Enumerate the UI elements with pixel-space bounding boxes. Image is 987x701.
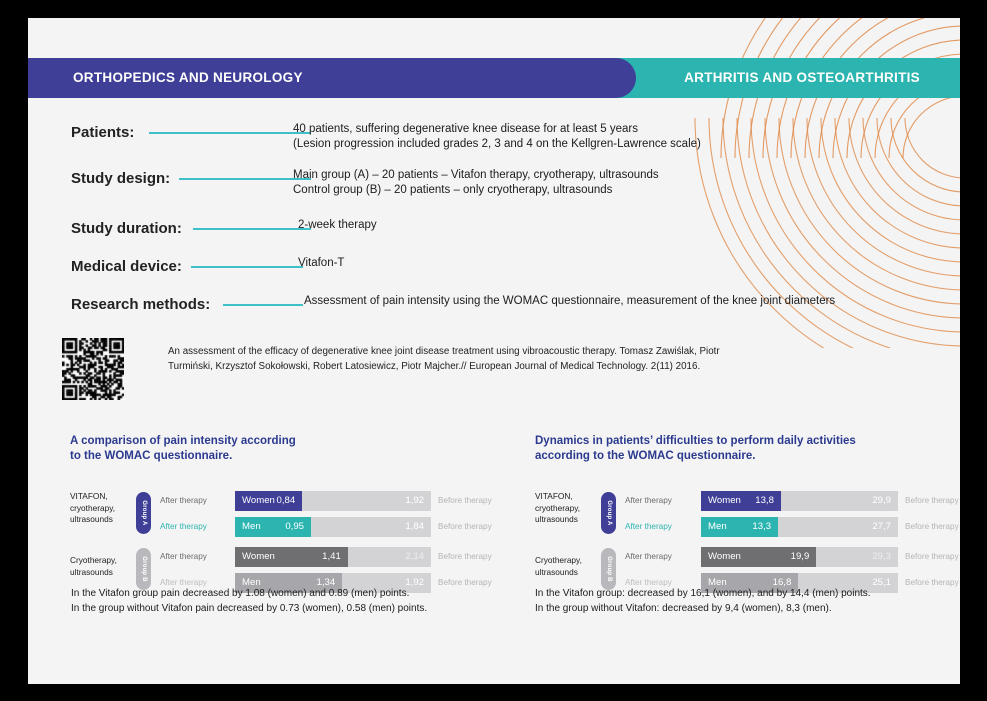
after-value: 19,9 — [791, 547, 810, 567]
chart-pain-intensity: A comparison of pain intensity according… — [70, 434, 490, 601]
bar-fill-after: Women0,84 — [235, 491, 302, 511]
spec-value: 40 patients, suffering degenerative knee… — [293, 122, 701, 152]
bar-track-before: 1,84Men0,95 — [235, 517, 431, 537]
spec-label: Study design: — [71, 170, 170, 187]
spec-rule — [193, 228, 311, 230]
after-therapy-label: After therapy — [160, 491, 222, 511]
spec-rule — [179, 178, 311, 180]
bar-category-label: Women — [242, 491, 275, 511]
bar-category-label: Women — [708, 491, 741, 511]
chart-row: After therapy29,9Women13,8Before therapy — [535, 491, 955, 511]
bar-fill-after: Women19,9 — [701, 547, 816, 567]
bar-category-label: Men — [708, 517, 727, 537]
bar-track-before: 1,92Women0,84 — [235, 491, 431, 511]
qr-code-icon[interactable] — [62, 338, 124, 400]
spec-row: Patients:40 patients, suffering degenera… — [71, 121, 921, 165]
before-therapy-label: Before therapy — [438, 547, 508, 567]
before-value: 2,14 — [405, 547, 424, 567]
bar-track-before: 29,3Women19,9 — [701, 547, 898, 567]
spec-row: Study design:Main group (A) – 20 patient… — [71, 167, 921, 211]
before-value: 1,92 — [405, 491, 424, 511]
after-value: 0,95 — [285, 517, 304, 537]
before-value: 29,3 — [872, 547, 891, 567]
after-therapy-label: After therapy — [625, 491, 687, 511]
before-therapy-label: Before therapy — [438, 491, 508, 511]
bar-track-before: 29,9Women13,8 — [701, 491, 898, 511]
spec-rule — [223, 304, 303, 306]
bar-fill-after: Women1,41 — [235, 547, 348, 567]
bar-category-label: Men — [242, 517, 261, 537]
chart-row: After therapy1,84Men0,95Before therapy — [70, 517, 490, 537]
bar-track-before: 27,7Men13,3 — [701, 517, 898, 537]
spec-value: Main group (A) – 20 patients – Vitafon t… — [293, 168, 659, 198]
chart-title: A comparison of pain intensity according… — [70, 434, 490, 464]
after-value: 13,8 — [755, 491, 774, 511]
chart-row: After therapy27,7Men13,3Before therapy — [535, 517, 955, 537]
before-therapy-label: Before therapy — [905, 517, 960, 537]
before-value: 1,84 — [405, 517, 424, 537]
slide-card: ORTHOPEDICS AND NEUROLOGY ARTHRITIS AND … — [28, 18, 960, 684]
chart-title: Dynamics in patients’ difficulties to pe… — [535, 434, 955, 464]
before-therapy-label: Before therapy — [905, 491, 960, 511]
before-therapy-label: Before therapy — [905, 547, 960, 567]
header-band: ORTHOPEDICS AND NEUROLOGY ARTHRITIS AND … — [28, 58, 960, 98]
before-value: 29,9 — [872, 491, 891, 511]
chart-row: After therapy29,3Women19,9Before therapy — [535, 547, 955, 567]
header-title-right: ARTHRITIS AND OSTEOARTHRITIS — [684, 58, 920, 98]
chart-body: VITAFON, cryotherapy, ultrasoundsGroup A… — [535, 491, 955, 601]
citation-text: An assessment of the efficacy of degener… — [168, 345, 758, 374]
after-value: 0,84 — [277, 491, 296, 511]
after-therapy-label: After therapy — [160, 547, 222, 567]
spec-value: Assessment of pain intensity using the W… — [304, 294, 835, 309]
after-value: 13,3 — [752, 517, 771, 537]
chart-row: After therapy2,14Women1,41Before therapy — [70, 547, 490, 567]
before-value: 27,7 — [872, 517, 891, 537]
bar-fill-after: Women13,8 — [701, 491, 781, 511]
spec-rule — [149, 132, 311, 134]
bar-category-label: Women — [242, 547, 275, 567]
spec-label: Patients: — [71, 124, 134, 141]
bar-track-before: 2,14Women1,41 — [235, 547, 431, 567]
header-title-left: ORTHOPEDICS AND NEUROLOGY — [73, 58, 303, 98]
spec-rule — [191, 266, 303, 268]
spec-label: Medical device: — [71, 258, 182, 275]
after-therapy-label: After therapy — [625, 547, 687, 567]
after-therapy-label: After therapy — [160, 517, 222, 537]
spec-label: Study duration: — [71, 220, 182, 237]
spec-label: Research methods: — [71, 296, 210, 313]
bar-fill-after: Men13,3 — [701, 517, 778, 537]
spec-value: Vitafon-T — [298, 256, 344, 271]
chart-body: VITAFON, cryotherapy, ultrasoundsGroup A… — [70, 491, 490, 601]
chart-row: After therapy1,92Women0,84Before therapy — [70, 491, 490, 511]
chart-daily-activities: Dynamics in patients’ difficulties to pe… — [535, 434, 955, 601]
chart-note-right: In the Vitafon group: decreased by 16,1 … — [535, 586, 960, 616]
after-value: 1,41 — [322, 547, 341, 567]
chart-note-left: In the Vitafon group pain decreased by 1… — [71, 586, 511, 616]
before-therapy-label: Before therapy — [438, 517, 508, 537]
bar-category-label: Women — [708, 547, 741, 567]
after-therapy-label: After therapy — [625, 517, 687, 537]
spec-value: 2-week therapy — [298, 218, 377, 233]
spec-row: Research methods:Assessment of pain inte… — [71, 289, 921, 333]
bar-fill-after: Men0,95 — [235, 517, 311, 537]
